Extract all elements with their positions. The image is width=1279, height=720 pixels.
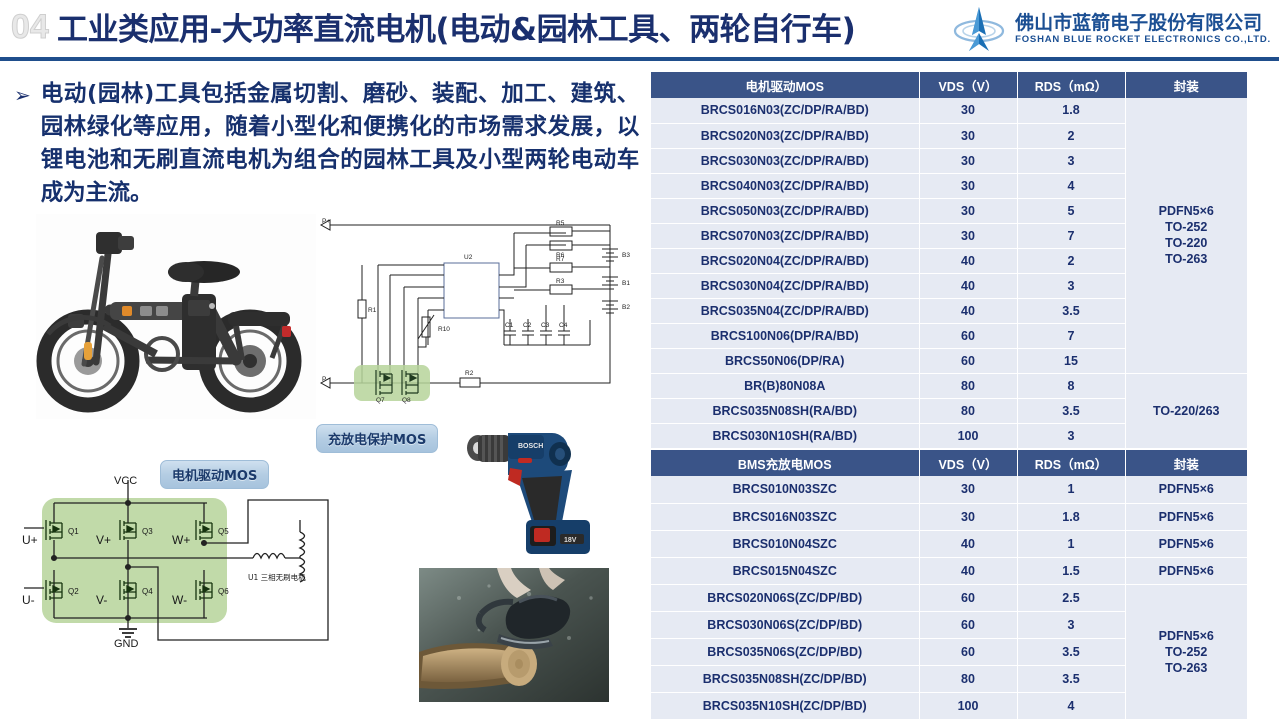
- cell-rds: 1: [1017, 476, 1125, 503]
- cell-rds: 7: [1017, 223, 1125, 248]
- table-row: BRCS020N06S(ZC/DP/BD) 60 2.5 PDFN5×6 TO-…: [651, 584, 1247, 611]
- cell-rds: 1: [1017, 530, 1125, 557]
- cell-vds: 60: [919, 584, 1017, 611]
- cell-rds: 1.5: [1017, 557, 1125, 584]
- cell-vds: 30: [919, 198, 1017, 223]
- slide-number: 04: [11, 8, 49, 46]
- c2-label: C2: [523, 322, 532, 329]
- cell-part: BRCS010N04SZC: [651, 530, 919, 557]
- cell-rds: 3.5: [1017, 665, 1125, 692]
- cell-rds: 3: [1017, 423, 1125, 448]
- cell-part: BR(B)80N08A: [651, 373, 919, 398]
- cell-package-group-1: PDFN5×6 TO-252 TO-220 TO-263: [1125, 98, 1247, 373]
- cell-vds: 30: [919, 223, 1017, 248]
- cell-part: BRCS030N03(ZC/DP/RA/BD): [651, 148, 919, 173]
- table-row: BRCS010N04SZC 40 1 PDFN5×6: [651, 530, 1247, 557]
- cell-vds: 100: [919, 423, 1017, 448]
- r5-label: R5: [556, 220, 565, 227]
- cell-vds: 60: [919, 611, 1017, 638]
- q5-label: Q5: [218, 527, 229, 536]
- cell-vds: 40: [919, 273, 1017, 298]
- q1-label: Q1: [68, 527, 79, 536]
- cell-rds: 7: [1017, 323, 1125, 348]
- cell-vds: 40: [919, 557, 1017, 584]
- r10-label: R10: [438, 326, 450, 333]
- cell-vds: 80: [919, 665, 1017, 692]
- motor-drive-mos-table: 电机驱动MOS VDS（V） RDS（mΩ） 封装 BRCS016N03(ZC/…: [651, 72, 1247, 449]
- bms-schematic-diagram: P+ P- U2 R1 R10 R2 R5 R6 R7 R3 B3 B1 B2 …: [318, 205, 638, 410]
- slide-header: 04 工业类应用-大功率直流电机(电动&园林工具、两轮自行车) 佛山市蓝箭电子股…: [0, 0, 1279, 62]
- phase-v-minus: V-: [96, 593, 107, 607]
- blue-rocket-arrow-icon: [951, 5, 1007, 53]
- cell-part: BRCS070N03(ZC/DP/RA/BD): [651, 223, 919, 248]
- cell-rds: 4: [1017, 173, 1125, 198]
- cell-vds: 40: [919, 530, 1017, 557]
- r2-label: R2: [465, 370, 474, 377]
- r7-label: R7: [556, 256, 565, 263]
- cell-package: PDFN5×6: [1125, 503, 1247, 530]
- callout-charge-protect-mos: 充放电保护MOS: [316, 424, 438, 453]
- phase-w-minus: W-: [172, 593, 187, 607]
- cell-rds: 2: [1017, 248, 1125, 273]
- phase-u-plus: U+: [22, 533, 38, 547]
- cell-vds: 80: [919, 373, 1017, 398]
- motor-bridge-schematic: VCC GND U+ V+ W+ U- V- W- Q1 Q3 Q5 Q2 Q4…: [8, 470, 348, 670]
- cell-part: BRCS035N10SH(ZC/DP/BD): [651, 692, 919, 719]
- cell-rds: 15: [1017, 348, 1125, 373]
- b1-label: B1: [622, 280, 630, 287]
- gnd-label: GND: [114, 638, 139, 650]
- motor-label: U1 三相无刷电机: [248, 572, 306, 582]
- company-name-en: FOSHAN BLUE ROCKET ELECTRONICS CO.,LTD.: [1015, 34, 1271, 46]
- table1-col-part: 电机驱动MOS: [651, 72, 919, 98]
- cell-vds: 30: [919, 476, 1017, 503]
- cell-rds: 3: [1017, 148, 1125, 173]
- cell-part: BRCS030N04(ZC/DP/RA/BD): [651, 273, 919, 298]
- cell-package: PDFN5×6: [1125, 476, 1247, 503]
- cell-vds: 60: [919, 323, 1017, 348]
- cell-package-group-2: TO-220/263: [1125, 373, 1247, 448]
- ebike-photo: [36, 214, 316, 419]
- drill-photo: BOSCH 18V: [440, 408, 625, 563]
- cell-rds: 3.5: [1017, 298, 1125, 323]
- table2-col-part: BMS充放电MOS: [651, 450, 919, 476]
- company-logo: 佛山市蓝箭电子股份有限公司 FOSHAN BLUE ROCKET ELECTRO…: [951, 4, 1271, 54]
- header-divider: [0, 57, 1279, 61]
- cell-vds: 30: [919, 148, 1017, 173]
- cell-vds: 30: [919, 503, 1017, 530]
- cell-part: BRCS035N06S(ZC/DP/BD): [651, 638, 919, 665]
- cell-part: BRCS50N06(DP/RA): [651, 348, 919, 373]
- cell-package: PDFN5×6: [1125, 557, 1247, 584]
- cell-part: BRCS100N06(DP/RA/BD): [651, 323, 919, 348]
- b2-label: B2: [622, 304, 630, 311]
- cell-rds: 3.5: [1017, 398, 1125, 423]
- cell-vds: 30: [919, 123, 1017, 148]
- cell-part: BRCS010N03SZC: [651, 476, 919, 503]
- q3-label: Q3: [142, 527, 153, 536]
- cell-part: BRCS040N03(ZC/DP/RA/BD): [651, 173, 919, 198]
- table-row: BRCS016N03SZC 30 1.8 PDFN5×6: [651, 503, 1247, 530]
- table1-header-row: 电机驱动MOS VDS（V） RDS（mΩ） 封装: [651, 72, 1247, 98]
- table1-col-rds: RDS（mΩ）: [1017, 72, 1125, 98]
- cell-part: BRCS020N06S(ZC/DP/BD): [651, 584, 919, 611]
- cell-rds: 2.5: [1017, 584, 1125, 611]
- q7-label: Q7: [376, 397, 385, 404]
- cell-rds: 3: [1017, 611, 1125, 638]
- phase-w-plus: W+: [172, 533, 190, 547]
- cell-part: BRCS030N06S(ZC/DP/BD): [651, 611, 919, 638]
- ic-label: U2: [464, 254, 473, 261]
- table-row: BRCS015N04SZC 40 1.5 PDFN5×6: [651, 557, 1247, 584]
- phase-u-minus: U-: [22, 593, 35, 607]
- r1-label: R1: [368, 307, 377, 314]
- table-row: BRCS010N03SZC 30 1 PDFN5×6: [651, 476, 1247, 503]
- c3-label: C3: [541, 322, 550, 329]
- cell-package-group: PDFN5×6 TO-252 TO-263: [1125, 584, 1247, 719]
- cell-rds: 1.8: [1017, 503, 1125, 530]
- table1-col-vds: VDS（V）: [919, 72, 1017, 98]
- bullet-paragraph: ➢ 电动(园林)工具包括金属切割、磨砂、装配、加工、建筑、园林绿化等应用，随着小…: [14, 78, 639, 210]
- cell-vds: 80: [919, 398, 1017, 423]
- company-name-cn: 佛山市蓝箭电子股份有限公司: [1015, 13, 1271, 34]
- cell-part: BRCS050N03(ZC/DP/RA/BD): [651, 198, 919, 223]
- cell-part: BRCS030N10SH(RA/BD): [651, 423, 919, 448]
- table2-col-package: 封装: [1125, 450, 1247, 476]
- cell-part: BRCS035N04(ZC/DP/RA/BD): [651, 298, 919, 323]
- b3-label: B3: [622, 252, 630, 259]
- c4-label: C4: [559, 322, 568, 329]
- c1-label: C1: [505, 322, 514, 329]
- q2-label: Q2: [68, 587, 79, 596]
- cell-vds: 100: [919, 692, 1017, 719]
- cell-part: BRCS016N03(ZC/DP/RA/BD): [651, 98, 919, 123]
- cell-part: BRCS035N08SH(RA/BD): [651, 398, 919, 423]
- cell-part: BRCS020N03(ZC/DP/RA/BD): [651, 123, 919, 148]
- cell-vds: 40: [919, 298, 1017, 323]
- cell-vds: 30: [919, 98, 1017, 123]
- terminal-pminus: P-: [322, 376, 329, 383]
- vcc-label: VCC: [114, 475, 137, 487]
- table-row: BR(B)80N08A 80 8 TO-220/263: [651, 373, 1247, 398]
- svg-text:BOSCH: BOSCH: [518, 443, 543, 450]
- q4-label: Q4: [142, 587, 153, 596]
- cell-vds: 60: [919, 348, 1017, 373]
- svg-text:18V: 18V: [564, 537, 577, 544]
- page-title: 工业类应用-大功率直流电机(电动&园林工具、两轮自行车): [57, 11, 855, 49]
- cell-rds: 3: [1017, 273, 1125, 298]
- cell-vds: 30: [919, 173, 1017, 198]
- cell-vds: 40: [919, 248, 1017, 273]
- terminal-pplus: P+: [322, 218, 330, 225]
- cell-part: BRCS016N03SZC: [651, 503, 919, 530]
- table2-col-vds: VDS（V）: [919, 450, 1017, 476]
- cell-rds: 8: [1017, 373, 1125, 398]
- q6-label: Q6: [218, 587, 229, 596]
- cell-vds: 60: [919, 638, 1017, 665]
- bullet-arrow-icon: ➢: [14, 78, 31, 210]
- bullet-text: 电动(园林)工具包括金属切割、磨砂、装配、加工、建筑、园林绿化等应用，随着小型化…: [41, 78, 639, 210]
- table1-col-package: 封装: [1125, 72, 1247, 98]
- table2-col-rds: RDS（mΩ）: [1017, 450, 1125, 476]
- callout-motor-drive-mos: 电机驱动MOS: [160, 460, 269, 489]
- table-row: BRCS016N03(ZC/DP/RA/BD) 30 1.8 PDFN5×6 T…: [651, 98, 1247, 123]
- cell-rds: 4: [1017, 692, 1125, 719]
- cell-rds: 2: [1017, 123, 1125, 148]
- cell-rds: 1.8: [1017, 98, 1125, 123]
- chainsaw-photo: [419, 568, 609, 702]
- cell-package: PDFN5×6: [1125, 530, 1247, 557]
- q8-label: Q8: [402, 397, 411, 404]
- table2-header-row: BMS充放电MOS VDS（V） RDS（mΩ） 封装: [651, 450, 1247, 476]
- phase-v-plus: V+: [96, 533, 111, 547]
- cell-part: BRCS020N04(ZC/DP/RA/BD): [651, 248, 919, 273]
- cell-part: BRCS015N04SZC: [651, 557, 919, 584]
- bms-charge-discharge-mos-table: BMS充放电MOS VDS（V） RDS（mΩ） 封装 BRCS010N03SZ…: [651, 450, 1247, 720]
- cell-part: BRCS035N08SH(ZC/DP/BD): [651, 665, 919, 692]
- r3-label: R3: [556, 278, 565, 285]
- cell-rds: 3.5: [1017, 638, 1125, 665]
- cell-rds: 5: [1017, 198, 1125, 223]
